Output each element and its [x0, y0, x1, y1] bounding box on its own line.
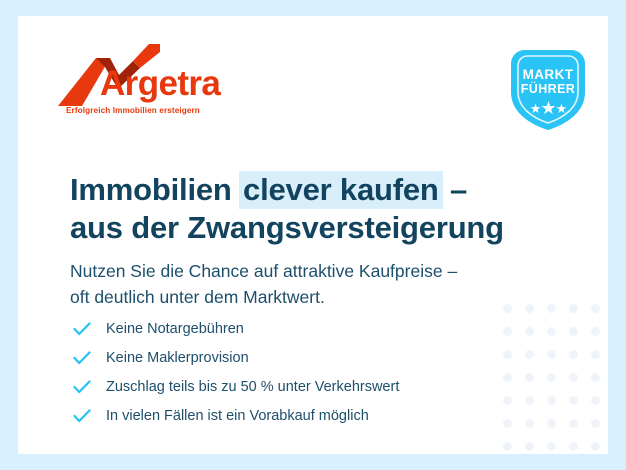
promo-banner: Argetra Erfolgreich Immobilien ersteiger… — [0, 0, 626, 470]
dot — [569, 396, 578, 405]
shield-badge-icon — [507, 48, 589, 132]
logo-tagline: Erfolgreich Immobilien ersteigern — [66, 106, 200, 115]
subheading-line2: oft deutlich unter dem Marktwert. — [70, 287, 325, 307]
dot — [591, 327, 600, 336]
dot — [547, 396, 556, 405]
argetra-logo[interactable]: Argetra Erfolgreich Immobilien ersteiger… — [56, 44, 246, 118]
subheading: Nutzen Sie die Chance auf attraktive Kau… — [70, 258, 560, 311]
dot — [503, 442, 512, 451]
list-item-label: In vielen Fällen ist ein Vorabkauf mögli… — [106, 408, 369, 424]
page-title: Immobilien clever kaufen – aus der Zwang… — [70, 171, 570, 248]
list-item: Keine Notargebühren — [73, 314, 533, 343]
dot — [547, 350, 556, 359]
list-item-label: Keine Maklerprovision — [106, 350, 249, 366]
check-icon — [73, 380, 97, 394]
logo-wordmark: Argetra — [100, 66, 220, 101]
check-icon — [73, 322, 97, 336]
markt-fuehrer-badge: MARKT FÜHRER ★★★ — [507, 48, 589, 132]
dot — [547, 442, 556, 451]
dot — [547, 327, 556, 336]
check-icon — [73, 409, 97, 423]
check-icon — [73, 351, 97, 365]
dot — [591, 350, 600, 359]
dot — [591, 419, 600, 428]
list-item: In vielen Fällen ist ein Vorabkauf mögli… — [73, 401, 533, 430]
dot — [591, 373, 600, 382]
dot — [525, 442, 534, 451]
dot — [569, 419, 578, 428]
list-item-label: Keine Notargebühren — [106, 321, 244, 337]
list-item: Keine Maklerprovision — [73, 343, 533, 372]
dot — [569, 350, 578, 359]
headline-highlight: clever kaufen — [239, 171, 443, 209]
dot — [591, 442, 600, 451]
dot — [591, 304, 600, 313]
dot — [547, 419, 556, 428]
dot — [547, 373, 556, 382]
list-item: Zuschlag teils bis zu 50 % unter Verkehr… — [73, 372, 533, 401]
dot — [591, 396, 600, 405]
dot — [569, 442, 578, 451]
dot — [569, 373, 578, 382]
dot — [569, 304, 578, 313]
promo-card: Argetra Erfolgreich Immobilien ersteiger… — [18, 16, 608, 454]
subheading-line1: Nutzen Sie die Chance auf attraktive Kau… — [70, 261, 457, 281]
dot — [569, 327, 578, 336]
headline-line1-after: – — [442, 172, 467, 207]
list-item-label: Zuschlag teils bis zu 50 % unter Verkehr… — [106, 379, 399, 395]
benefits-list: Keine Notargebühren Keine Maklerprovisio… — [73, 314, 533, 430]
headline-line1-before: Immobilien — [70, 172, 240, 207]
headline-line2: aus der Zwangsversteigerung — [70, 210, 504, 245]
